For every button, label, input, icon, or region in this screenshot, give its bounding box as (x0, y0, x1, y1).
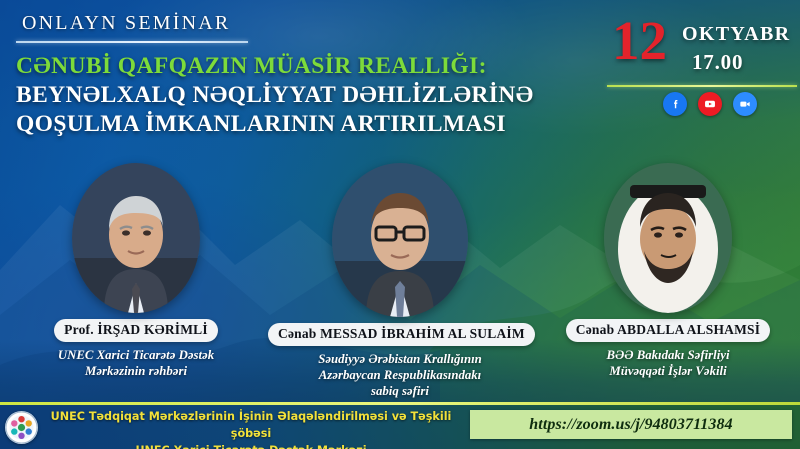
speaker-2-name: Cənab MESSAD İBRAHİM AL SULAİM (268, 323, 535, 346)
speaker-card-1: Prof. İRŞAD KƏRİMLİ UNEC Xarici Ticarətə… (12, 163, 260, 379)
speaker-2-role-line-1: Səudiyyə Ərəbistan Krallığının (268, 351, 532, 367)
speaker-3-name: Cənab ABDALLA ALSHAMSİ (566, 319, 770, 342)
social-links (663, 92, 757, 116)
organizer-text: UNEC Tədqiqat Mərkəzlərinin İşinin Əlaqə… (42, 408, 460, 449)
speaker-1-role: UNEC Xarici Ticarətə Dəstək Mərkəzinin r… (12, 347, 260, 379)
speaker-2-role: Səudiyyə Ərəbistan Krallığının Azərbayca… (268, 351, 532, 399)
speaker-1-role-line-2: Mərkəzinin rəhbəri (12, 363, 260, 379)
zoom-meeting-url[interactable]: https://zoom.us/j/94803711384 (470, 410, 792, 439)
speaker-1-name: Prof. İRŞAD KƏRİMLİ (54, 319, 218, 342)
kicker-divider (16, 41, 248, 43)
speaker-1-role-line-1: UNEC Xarici Ticarətə Dəstək (12, 347, 260, 363)
event-month-label: OKTYABR (682, 23, 790, 46)
speaker-card-2: Cənab MESSAD İBRAHİM AL SULAİM Səudiyyə … (268, 163, 532, 399)
webinar-poster: ONLAYN SEMİNAR CƏNUBİ QAFQAZIN MÜASİR RE… (0, 0, 800, 449)
speaker-2-role-line-2: Azərbaycan Respublikasındakı (268, 367, 532, 383)
facebook-icon[interactable] (663, 92, 687, 116)
title-line-2: BEYNƏLXALQ NƏQLİYYAT DƏHLİZLƏRİNƏ (16, 82, 533, 109)
speaker-3-role: BƏƏ Bakıdakı Səfirliyi Müvəqqəti İşlər V… (548, 347, 788, 379)
speaker-1-avatar (72, 163, 200, 313)
speaker-2-avatar (332, 163, 468, 317)
speaker-2-role-line-3: sabiq səfiri (268, 383, 532, 399)
organizer-line-2: UNEC Xarici Ticarətə Dəstək Mərkəzi (42, 442, 460, 449)
date-divider (607, 85, 797, 87)
unec-logo-icon (5, 411, 38, 444)
speaker-3-role-line-1: BƏƏ Bakıdakı Səfirliyi (548, 347, 788, 363)
speaker-3-avatar (604, 163, 732, 313)
title-line-1: CƏNUBİ QAFQAZIN MÜASİR REALLIĞI: (16, 53, 487, 80)
event-time-label: 17.00 (692, 50, 743, 75)
organizer-line-1: UNEC Tədqiqat Mərkəzlərinin İşinin Əlaqə… (42, 408, 460, 442)
title-line-3: QOŞULMA İMKANLARININ ARTIRILMASI (16, 111, 506, 138)
youtube-icon[interactable] (698, 92, 722, 116)
speaker-3-role-line-2: Müvəqqəti İşlər Vəkili (548, 363, 788, 379)
speaker-card-3: Cənab ABDALLA ALSHAMSİ BƏƏ Bakıdakı Səfi… (548, 163, 788, 379)
kicker-label: ONLAYN SEMİNAR (22, 12, 230, 35)
footer-bar: UNEC Tədqiqat Mərkəzlərinin İşinin Əlaqə… (0, 405, 800, 449)
event-day-number: 12 (612, 13, 667, 68)
zoom-video-icon[interactable] (733, 92, 757, 116)
